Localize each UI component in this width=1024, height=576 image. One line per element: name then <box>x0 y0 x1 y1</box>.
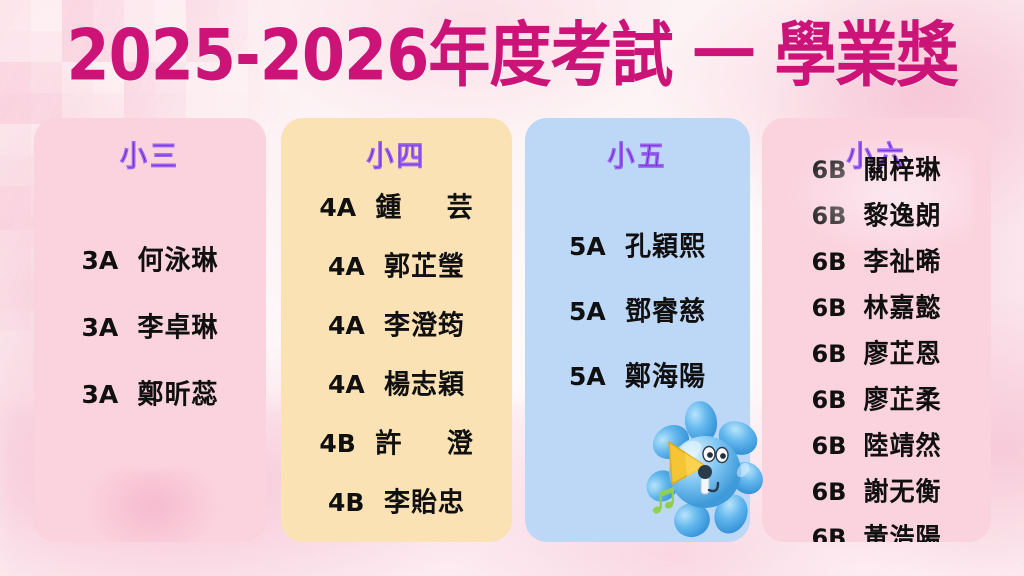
list-item: 6B 陸靖然 <box>811 426 941 462</box>
entry-name: 李澄筠 <box>384 304 465 342</box>
list-item: 4A 楊志穎 <box>328 364 465 401</box>
entry-name: 鄭昕蕊 <box>137 373 218 411</box>
award-columns: 小三 3A 何泳琳 3A 李卓琳 3A 鄭昕蕊 小四 4A 鍾芸 <box>0 118 1024 548</box>
entry-class: 3A <box>81 380 121 409</box>
list-item: 4A 李澄筠 <box>328 305 465 342</box>
page-title: 2025-2026年度考試 一 學業獎 <box>0 20 1024 91</box>
list-item: 6B 廖芷恩 <box>811 334 941 370</box>
list-item: 6B 林嘉懿 <box>811 288 941 324</box>
entry-name: 廖芷恩 <box>863 333 941 370</box>
column-heading-primary-5: 小五 <box>525 132 750 174</box>
entry-name: 關梓琳 <box>863 149 941 186</box>
entry-name: 許澄 <box>375 422 473 460</box>
entry-class: 4A <box>328 370 368 399</box>
entry-class: 6B <box>811 386 849 414</box>
list-item: 4B 許澄 <box>319 423 473 460</box>
entry-class: 3A <box>81 313 121 342</box>
column-card-primary-6: 小六 6B 關梓琳 6B 黎逸朗 6B 李祉晞 6B 林嘉懿 6B 廖芷恩 <box>762 118 991 542</box>
list-item: 3A 何泳琳 <box>81 240 218 277</box>
entry-class: 4A <box>328 311 368 340</box>
entry-class: 6B <box>811 294 849 322</box>
entry-name: 孔穎熙 <box>625 225 706 263</box>
entry-class: 4B <box>319 429 359 458</box>
column-card-primary-5: 小五 5A 孔穎熙 5A 鄧睿慈 5A 鄭海陽 <box>525 118 750 542</box>
entry-class: 6B <box>811 340 849 368</box>
entry-class: 6B <box>811 524 849 542</box>
entry-name: 何泳琳 <box>137 239 218 277</box>
entry-list-primary-4: 4A 鍾芸 4A 郭芷瑩 4A 李澄筠 4A 楊志穎 4B 許澄 4B 李貽忠 <box>281 177 512 533</box>
column-card-primary-3: 小三 3A 何泳琳 3A 李卓琳 3A 鄭昕蕊 <box>34 118 266 542</box>
list-item: 3A 李卓琳 <box>81 307 218 344</box>
entry-name: 李貽忠 <box>384 481 465 519</box>
entry-list-primary-6: 6B 關梓琳 6B 黎逸朗 6B 李祉晞 6B 林嘉懿 6B 廖芷恩 6B 廖芷… <box>762 173 991 535</box>
entry-name: 鄭海陽 <box>625 355 706 393</box>
list-item: 4A 鍾芸 <box>319 187 473 224</box>
entry-name: 鄧睿慈 <box>625 290 706 328</box>
entry-class: 5A <box>569 297 609 326</box>
entry-list-primary-3: 3A 何泳琳 3A 李卓琳 3A 鄭昕蕊 <box>34 177 266 533</box>
entry-name: 謝无衡 <box>863 471 941 508</box>
entry-class: 4A <box>319 193 359 222</box>
entry-name: 郭芷瑩 <box>384 245 465 283</box>
entry-class: 6B <box>811 202 849 230</box>
entry-name: 楊志穎 <box>384 363 465 401</box>
list-item: 4A 郭芷瑩 <box>328 246 465 283</box>
column-heading-primary-3: 小三 <box>34 132 266 174</box>
entry-class: 5A <box>569 362 609 391</box>
entry-name: 李卓琳 <box>137 306 218 344</box>
list-item: 5A 孔穎熙 <box>569 226 706 263</box>
column-heading-primary-4: 小四 <box>281 132 512 174</box>
entry-name: 廖芷柔 <box>863 379 941 416</box>
list-item: 5A 鄭海陽 <box>569 356 706 393</box>
list-item: 3A 鄭昕蕊 <box>81 374 218 411</box>
list-item: 5A 鄧睿慈 <box>569 291 706 328</box>
entry-name: 李祉晞 <box>863 241 941 278</box>
entry-class: 6B <box>811 432 849 460</box>
list-item: 6B 李祉晞 <box>811 242 941 278</box>
list-item: 6B 謝无衡 <box>811 472 941 508</box>
entry-name: 林嘉懿 <box>863 287 941 324</box>
column-card-primary-4: 小四 4A 鍾芸 4A 郭芷瑩 4A 李澄筠 4A 楊志穎 4B 許澄 <box>281 118 512 542</box>
entry-name: 鍾芸 <box>375 186 473 224</box>
list-item: 6B 廖芷柔 <box>811 380 941 416</box>
entry-name: 黃浩陽 <box>863 517 941 542</box>
list-item: 6B 黎逸朗 <box>811 196 941 232</box>
entry-class: 4B <box>328 488 368 517</box>
entry-class: 6B <box>811 248 849 276</box>
entry-name: 陸靖然 <box>863 425 941 462</box>
entry-class: 6B <box>811 478 849 506</box>
list-item: 4B 李貽忠 <box>328 482 465 519</box>
entry-name: 黎逸朗 <box>863 195 941 232</box>
entry-class: 4A <box>328 252 368 281</box>
entry-class: 3A <box>81 246 121 275</box>
list-item: 6B 黃浩陽 <box>811 518 941 542</box>
entry-class: 5A <box>569 232 609 261</box>
entry-list-primary-5: 5A 孔穎熙 5A 鄧睿慈 5A 鄭海陽 <box>525 177 750 533</box>
